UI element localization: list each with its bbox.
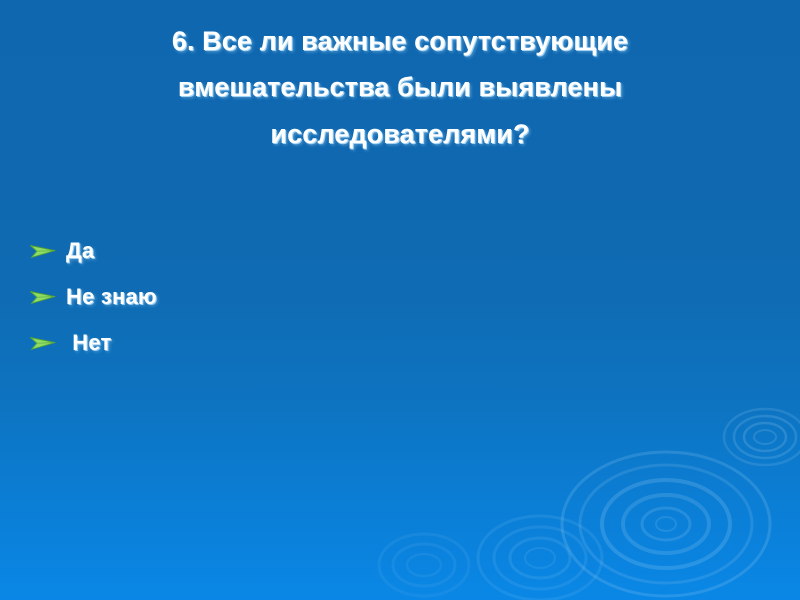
presentation-slide: 6. Все ли важные сопутствующие вмешатель… bbox=[0, 0, 800, 600]
ripple-small-icon bbox=[724, 409, 800, 465]
list-item-option-1[interactable]: Да bbox=[28, 228, 588, 274]
ripple-large-icon bbox=[562, 452, 770, 596]
slide-title: 6. Все ли важные сопутствующие вмешатель… bbox=[26, 18, 774, 157]
option-label: Нет bbox=[66, 330, 112, 356]
option-label: Не знаю bbox=[66, 284, 157, 310]
slide-title-line-1: 6. Все ли важные сопутствующие bbox=[26, 18, 774, 64]
list-item-option-3[interactable]: Нет bbox=[28, 320, 588, 366]
answer-options-list: Да Не знаю Нет bbox=[28, 228, 588, 366]
list-item-option-2[interactable]: Не знаю bbox=[28, 274, 588, 320]
green-arrowhead-bullet-icon bbox=[28, 287, 66, 307]
green-arrowhead-bullet-icon bbox=[28, 333, 66, 353]
slide-title-line-3: исследователями? bbox=[26, 111, 774, 157]
slide-title-line-2: вмешательства были выявлены bbox=[26, 64, 774, 110]
green-arrowhead-bullet-icon bbox=[28, 241, 66, 261]
option-label: Да bbox=[66, 238, 94, 264]
ripple-faint-icon bbox=[379, 534, 469, 596]
ripple-medium-icon bbox=[478, 516, 602, 600]
